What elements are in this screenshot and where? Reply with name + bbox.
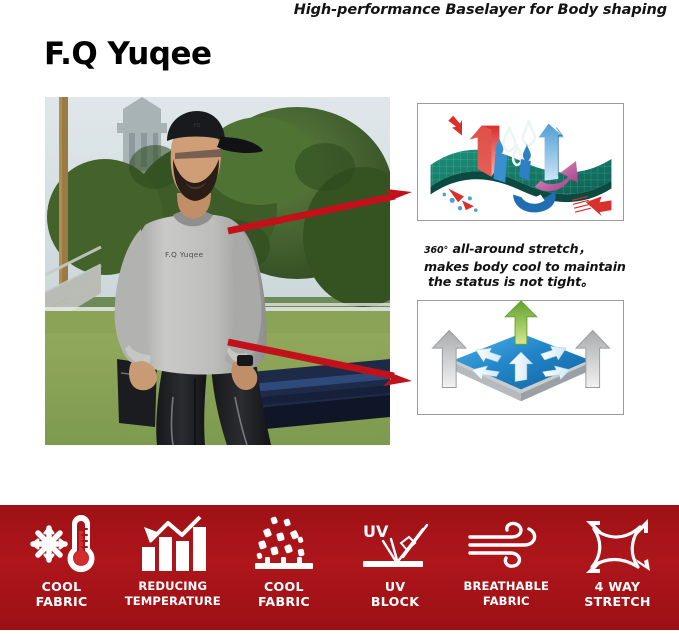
uv-block-icon: UV (357, 511, 433, 577)
stretch-fabric-illustration (417, 103, 624, 221)
feature-label: BREATHABLE FABRIC (464, 579, 549, 609)
feature-four-way-stretch[interactable]: 4 WAY STRETCH (562, 511, 673, 626)
feature-bar: COOL FABRIC (0, 505, 679, 630)
caption-degree-value: 360 (424, 245, 444, 256)
caption-line-1: 360° all-around stretch， (424, 241, 591, 256)
feature-cool-fabric-2[interactable]: COOL FABRIC (228, 511, 339, 626)
feature-label: COOL FABRIC (36, 579, 88, 609)
svg-text:F.Q Yuqee: F.Q Yuqee (165, 250, 204, 259)
feature-label: 4 WAY STRETCH (584, 579, 650, 609)
feature-label: REDUCING TEMPERATURE (125, 579, 221, 609)
four-way-stretch-icon (578, 511, 656, 577)
droplets-icon (251, 511, 317, 577)
feature-label: UV BLOCK (371, 579, 419, 609)
page-tagline: High-performance Baselayer for Body shap… (294, 2, 667, 18)
wind-airflow-icon (466, 511, 546, 577)
bar-chart-down-icon (138, 511, 208, 577)
snowflake-thermometer-icon (25, 511, 99, 577)
svg-text:FQ: FQ (194, 123, 201, 129)
caption-line-1-text: all-around stretch， (448, 241, 591, 256)
caption-line-3: the status is not tight。 (424, 274, 674, 290)
brand-title: F.Q Yuqee (44, 36, 212, 72)
svg-text:UV: UV (363, 522, 389, 541)
feature-label: COOL FABRIC (258, 579, 310, 609)
feature-cool-fabric-1[interactable]: COOL FABRIC (6, 511, 117, 626)
feature-reducing-temperature[interactable]: REDUCING TEMPERATURE (117, 511, 228, 626)
feature-uv-block[interactable]: UV UV BLOCK (340, 511, 451, 626)
stretch-caption: 360° all-around stretch， makes body cool… (424, 241, 674, 290)
moisture-wicking-illustration (417, 300, 624, 415)
caption-line-2: makes body cool to maintain (424, 259, 674, 275)
product-photo: FQ F.Q Yuqee (45, 97, 390, 445)
feature-row: COOL FABRIC (0, 505, 679, 630)
feature-breathable-fabric[interactable]: BREATHABLE FABRIC (451, 511, 562, 626)
